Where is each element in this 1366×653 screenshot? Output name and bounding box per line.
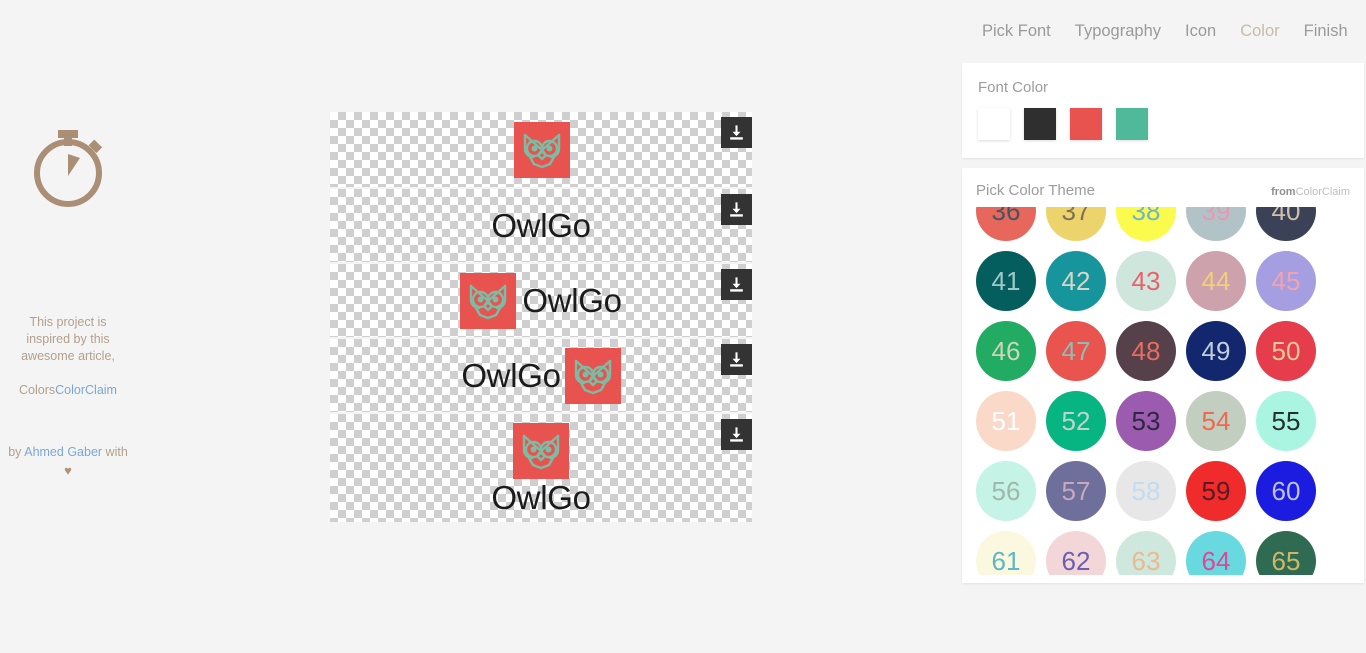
color-theme-41[interactable]: 41: [976, 251, 1036, 311]
color-theme-61[interactable]: 61: [976, 531, 1036, 575]
sidebar-inspiration-note: This project is inspired by this awesome…: [8, 314, 128, 365]
owl-icon: [460, 273, 516, 329]
right-panel: Pick Font Typography Icon Color Finish F…: [960, 0, 1366, 653]
owl-icon: [514, 122, 569, 177]
brand-text: OwlGo: [491, 481, 590, 514]
logo-lockup-stacked: OwlGo: [491, 423, 590, 514]
source-prefix: from: [1271, 186, 1295, 198]
color-theme-39[interactable]: 39: [1186, 207, 1246, 241]
color-theme-62[interactable]: 62: [1046, 531, 1106, 575]
article-colors-label: Colors: [19, 383, 55, 397]
brand-text: OwlGo: [461, 359, 560, 392]
download-button[interactable]: [721, 269, 752, 300]
download-button[interactable]: [721, 344, 752, 375]
font-color-dark[interactable]: [1024, 108, 1056, 140]
tab-color[interactable]: Color: [1228, 18, 1291, 45]
color-theme-50[interactable]: 50: [1256, 321, 1316, 381]
color-theme-64[interactable]: 64: [1186, 531, 1246, 575]
color-theme-45[interactable]: 45: [1256, 251, 1316, 311]
download-icon: [727, 425, 746, 444]
color-theme-60[interactable]: 60: [1256, 461, 1316, 521]
color-theme-scroll-region[interactable]: 3637383940414243444546474849505152535455…: [976, 207, 1350, 575]
download-icon: [727, 350, 746, 369]
brand-text: OwlGo: [522, 284, 621, 317]
owl-icon: [565, 348, 621, 404]
color-theme-49[interactable]: 49: [1186, 321, 1246, 381]
color-theme-57[interactable]: 57: [1046, 461, 1106, 521]
download-button[interactable]: [721, 419, 752, 450]
tab-typography[interactable]: Typography: [1063, 18, 1173, 45]
app-root: This project is inspired by this awesome…: [0, 0, 1366, 653]
color-theme-51[interactable]: 51: [976, 391, 1036, 451]
font-color-title: Font Color: [978, 79, 1348, 96]
credit-prefix: by: [8, 445, 24, 459]
brand-text: OwlGo: [491, 209, 590, 242]
download-icon: [727, 275, 746, 294]
font-color-teal[interactable]: [1116, 108, 1148, 140]
color-theme-54[interactable]: 54: [1186, 391, 1246, 451]
logo-lockup-icon-left: OwlGo: [460, 273, 621, 329]
color-theme-53[interactable]: 53: [1116, 391, 1176, 451]
color-theme-grid: 3637383940414243444546474849505152535455…: [976, 207, 1350, 575]
source-name: ColorClaim: [1296, 186, 1350, 198]
color-theme-44[interactable]: 44: [1186, 251, 1246, 311]
color-theme-59[interactable]: 59: [1186, 461, 1246, 521]
preview-row: OwlGo: [330, 189, 752, 262]
color-theme-46[interactable]: 46: [976, 321, 1036, 381]
stopwatch-icon: [20, 118, 116, 214]
preview-row: OwlGo: [330, 414, 752, 522]
logo-lockup-text-only: OwlGo: [491, 209, 590, 242]
preview-row: OwlGo: [330, 339, 752, 412]
sidebar: This project is inspired by this awesome…: [0, 0, 136, 653]
logo-preview-area: OwlGo: [330, 112, 752, 524]
font-color-swatch-row: [978, 108, 1348, 140]
color-theme-56[interactable]: 56: [976, 461, 1036, 521]
color-theme-43[interactable]: 43: [1116, 251, 1176, 311]
font-color-white[interactable]: [978, 108, 1010, 140]
download-icon: [727, 123, 746, 142]
author-link[interactable]: Ahmed Gaber: [24, 445, 102, 459]
logo-lockup-icon-right: OwlGo: [461, 348, 620, 404]
tab-icon[interactable]: Icon: [1173, 18, 1228, 45]
download-button[interactable]: [721, 117, 752, 148]
article-colorclaim-link[interactable]: ColorClaim: [55, 383, 117, 397]
credit-suffix: with: [102, 445, 128, 459]
preview-row: [330, 112, 752, 187]
color-theme-source: fromColorClaim: [1271, 186, 1350, 198]
owl-icon: [513, 423, 569, 479]
font-color-red[interactable]: [1070, 108, 1102, 140]
download-icon: [727, 200, 746, 219]
color-theme-58[interactable]: 58: [1116, 461, 1176, 521]
color-theme-40[interactable]: 40: [1256, 207, 1316, 241]
color-theme-title: Pick Color Theme: [976, 182, 1095, 199]
color-theme-header: Pick Color Theme fromColorClaim: [976, 182, 1350, 199]
color-theme-37[interactable]: 37: [1046, 207, 1106, 241]
sidebar-article-credit: ColorsColorClaim: [0, 382, 136, 399]
color-theme-55[interactable]: 55: [1256, 391, 1316, 451]
color-theme-38[interactable]: 38: [1116, 207, 1176, 241]
color-theme-48[interactable]: 48: [1116, 321, 1176, 381]
color-theme-52[interactable]: 52: [1046, 391, 1106, 451]
font-color-card: Font Color: [962, 63, 1364, 158]
color-theme-card: Pick Color Theme fromColorClaim 36373839…: [962, 168, 1364, 583]
tab-pick-font[interactable]: Pick Font: [970, 18, 1063, 45]
color-theme-47[interactable]: 47: [1046, 321, 1106, 381]
tab-finish[interactable]: Finish: [1292, 18, 1360, 45]
color-theme-36[interactable]: 36: [976, 207, 1036, 241]
download-button[interactable]: [721, 194, 752, 225]
color-theme-65[interactable]: 65: [1256, 531, 1316, 575]
color-theme-63[interactable]: 63: [1116, 531, 1176, 575]
heart-icon: ♥: [0, 464, 136, 478]
wizard-tabs: Pick Font Typography Icon Color Finish: [960, 0, 1366, 63]
preview-row: OwlGo: [330, 264, 752, 337]
color-theme-42[interactable]: 42: [1046, 251, 1106, 311]
sidebar-author-credit: by Ahmed Gaber with ♥: [0, 444, 136, 478]
logo-lockup-icon-only: [514, 122, 569, 177]
